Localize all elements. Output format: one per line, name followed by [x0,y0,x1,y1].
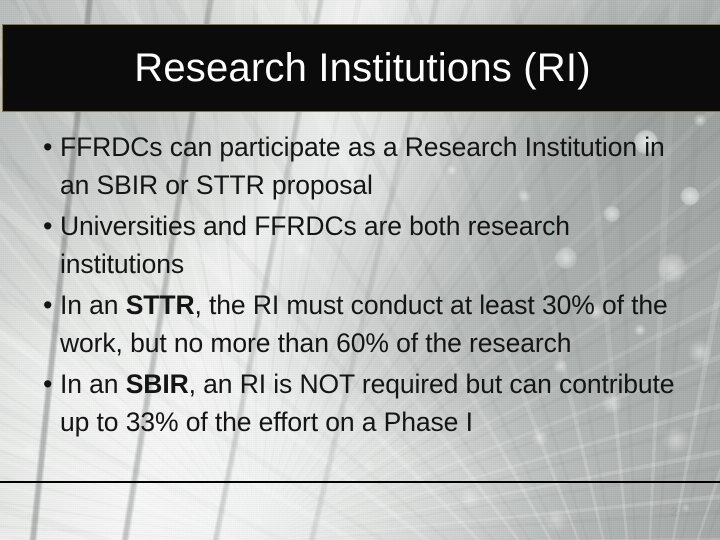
bullet-point-icon: • [36,128,60,166]
footer-divider-line [0,481,720,483]
list-item: • In an STTR, the RI must conduct at lea… [36,286,696,362]
page-number: 2 [660,505,688,519]
list-item: • Universities and FFRDCs are both resea… [36,207,696,283]
bullet-text-sttr-percentages: In an STTR, the RI must conduct at least… [60,286,696,362]
page-title: Research Institutions (RI) [134,48,592,88]
bullet-text-universities-ffrdcs: Universities and FFRDCs are both researc… [60,207,696,283]
bullet-point-icon: • [36,286,60,324]
presentation-slide: Research Institutions (RI) • FFRDCs can … [0,0,720,540]
bullet-point-icon: • [36,365,60,403]
list-item: • In an SBIR, an RI is NOT required but … [36,365,696,441]
bullet-point-icon: • [36,207,60,245]
bullet-text-ffrdc-participate: FFRDCs can participate as a Research Ins… [60,128,696,204]
slide-title-bar: Research Institutions (RI) [2,24,720,112]
list-item: • FFRDCs can participate as a Research I… [36,128,696,204]
bullet-list: • FFRDCs can participate as a Research I… [36,128,696,444]
bullet-text-sbir-percentages: In an SBIR, an RI is NOT required but ca… [60,365,696,441]
